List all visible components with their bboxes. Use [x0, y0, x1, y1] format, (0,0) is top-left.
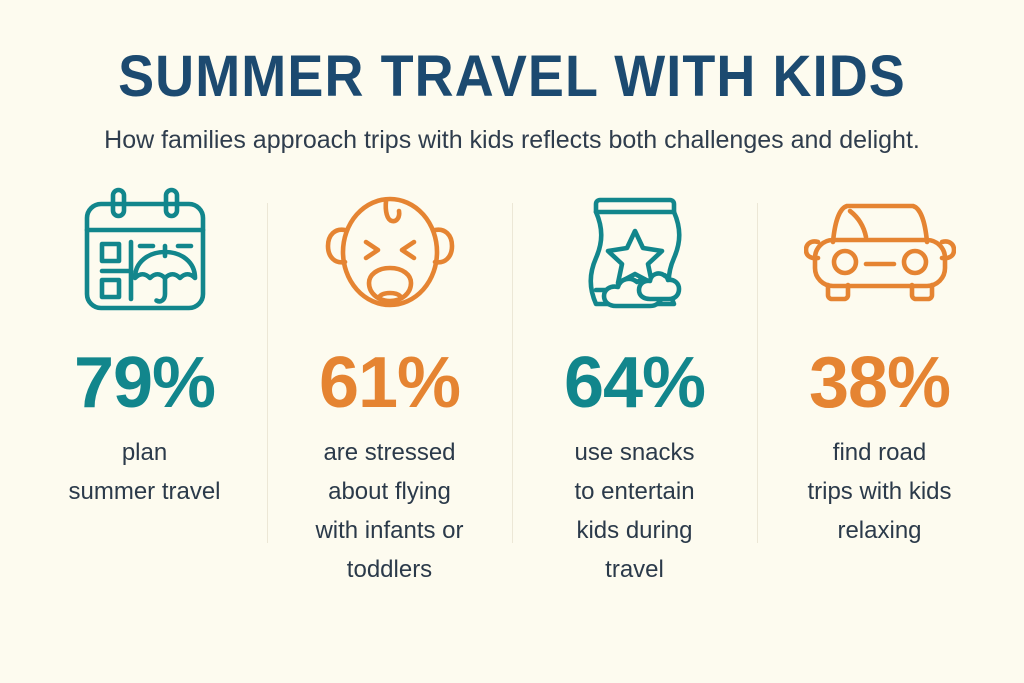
stat-column-plan-summer-travel: 79% plan summer travel [22, 181, 267, 589]
caption-line: are stressed [315, 433, 463, 472]
stat-value: 61% [319, 347, 460, 419]
crying-baby-face-icon [319, 181, 461, 323]
page-subtitle: How families approach trips with kids re… [97, 124, 927, 157]
caption-line: find road [807, 433, 951, 472]
stat-value: 79% [74, 347, 215, 419]
snack-bag-icon [569, 181, 701, 323]
stat-caption: find road trips with kids relaxing [807, 433, 951, 550]
caption-line: summer travel [68, 472, 220, 511]
caption-line: travel [574, 550, 694, 589]
car-front-icon [804, 181, 956, 323]
stat-value: 64% [564, 347, 705, 419]
caption-line: use snacks [574, 433, 694, 472]
stat-value: 38% [809, 347, 950, 419]
stat-caption: use snacks to entertain kids during trav… [574, 433, 694, 589]
page-title: SUMMER TRAVEL WITH KIDS [36, 44, 988, 110]
caption-line: plan [68, 433, 220, 472]
stat-column-road-trips-relaxing: 38% find road trips with kids relaxing [757, 181, 1002, 589]
stat-column-stressed-about-flying: 61% are stressed about flying with infan… [267, 181, 512, 589]
stats-row: 79% plan summer travel 61% [0, 181, 1024, 589]
caption-line: kids during [574, 511, 694, 550]
stat-column-use-snacks: 64% use snacks to entertain kids during … [512, 181, 757, 589]
caption-line: with infants or [315, 511, 463, 550]
caption-line: to entertain [574, 472, 694, 511]
caption-line: relaxing [807, 511, 951, 550]
caption-line: trips with kids [807, 472, 951, 511]
caption-line: about flying [315, 472, 463, 511]
infographic-canvas: SUMMER TRAVEL WITH KIDS How families app… [0, 0, 1024, 683]
calendar-umbrella-icon [74, 181, 216, 323]
header: SUMMER TRAVEL WITH KIDS How families app… [0, 0, 1024, 157]
stat-caption: are stressed about flying with infants o… [315, 433, 463, 589]
stat-caption: plan summer travel [68, 433, 220, 511]
caption-line: toddlers [315, 550, 463, 589]
